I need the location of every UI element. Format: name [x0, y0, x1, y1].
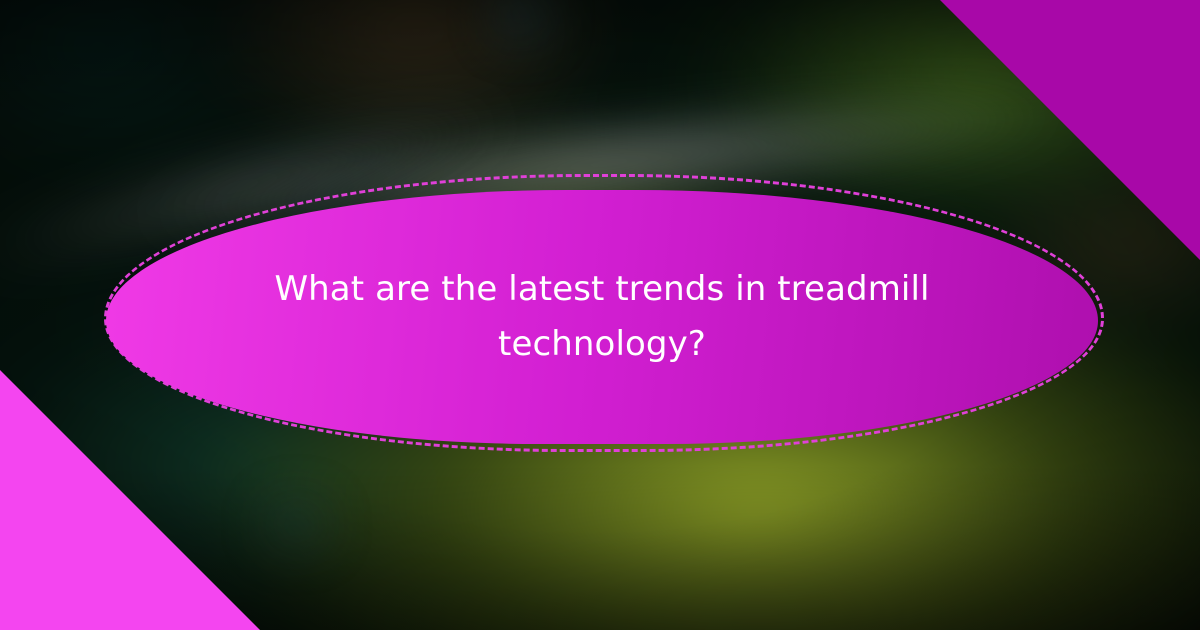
social-quote-card: What are the latest trends in treadmill …	[0, 0, 1200, 630]
question-blob: What are the latest trends in treadmill …	[106, 190, 1098, 444]
question-text: What are the latest trends in treadmill …	[222, 262, 982, 372]
